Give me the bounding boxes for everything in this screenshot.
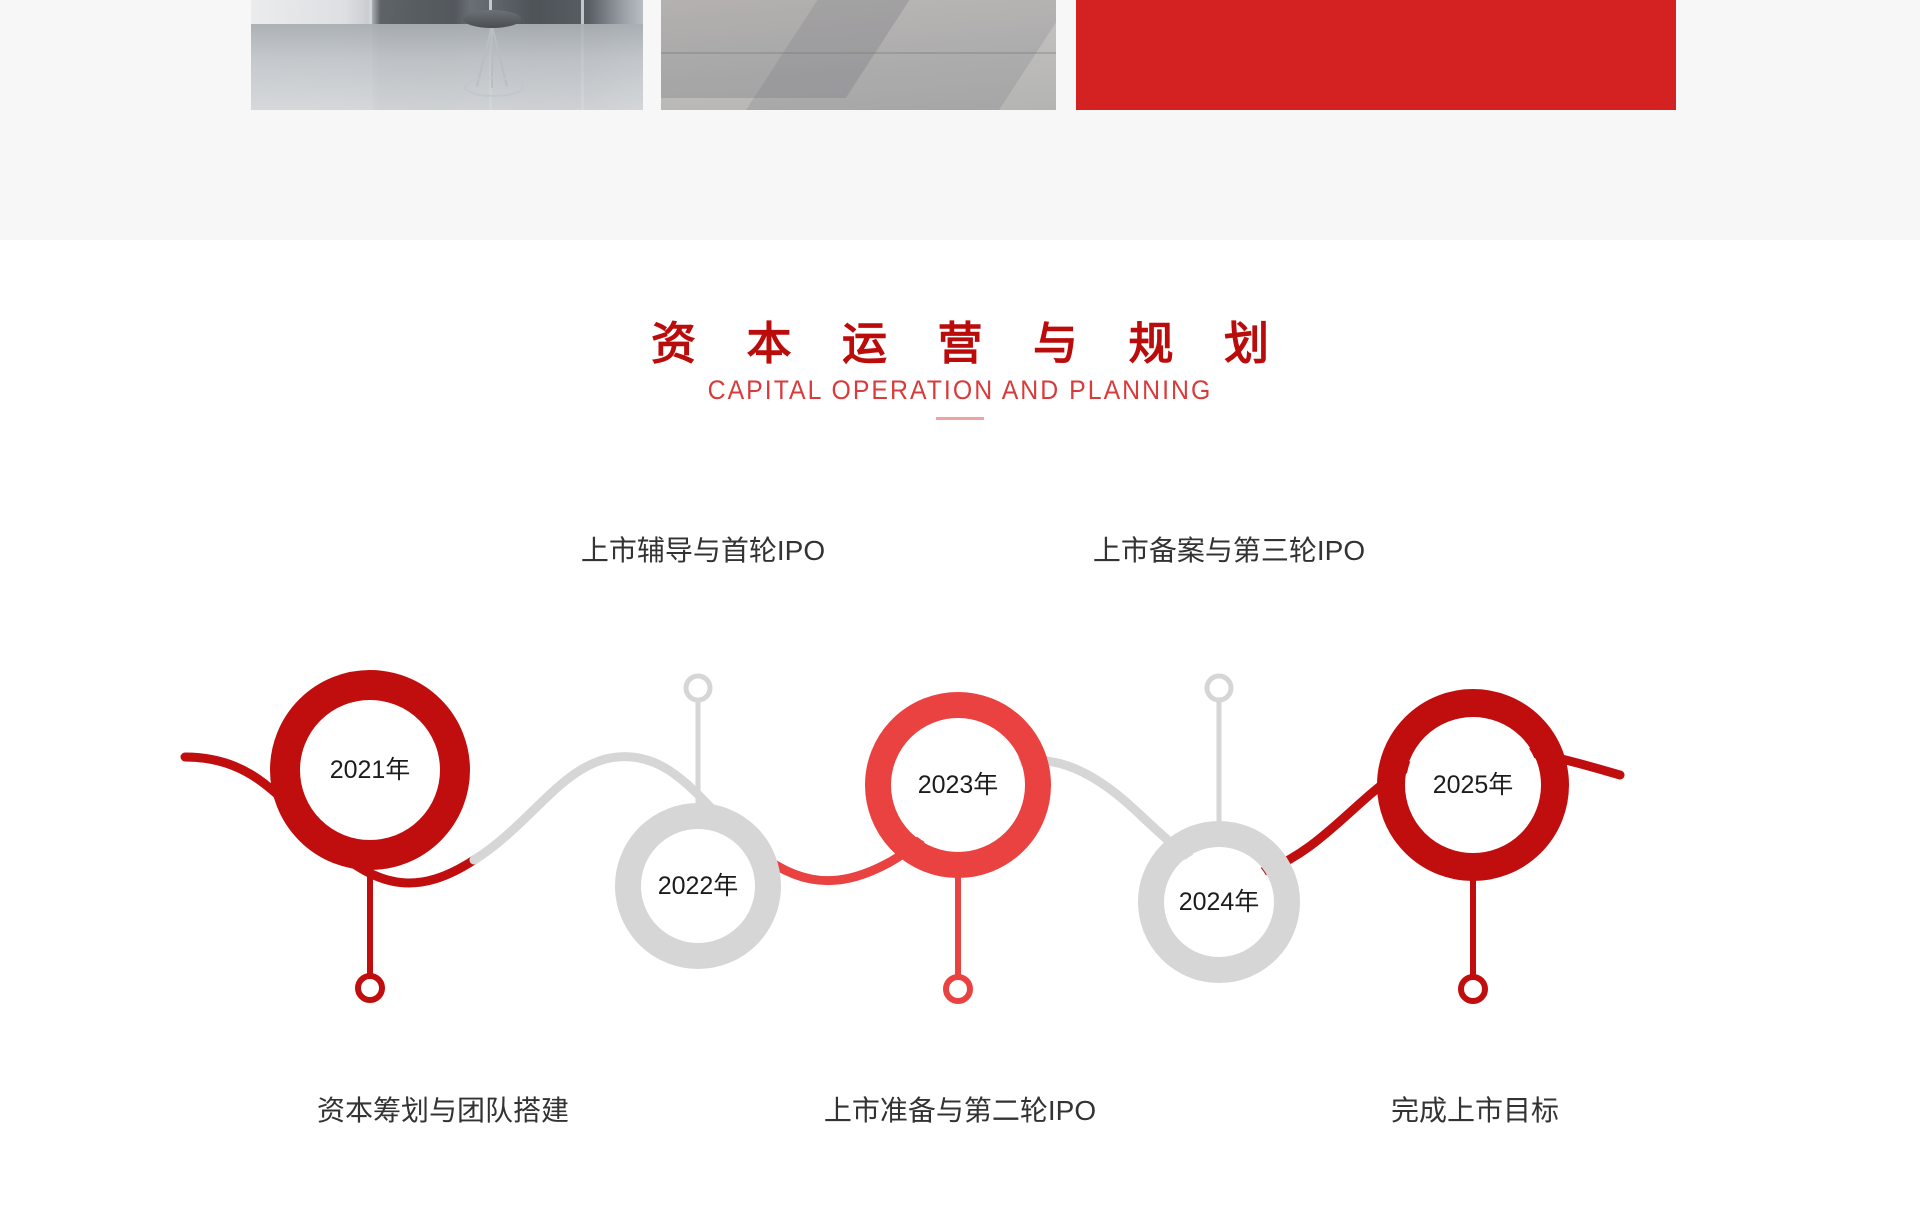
factory-pavement-photo [661, 0, 1056, 110]
milestone-label-2022: 上市辅导与首轮IPO [581, 535, 825, 566]
page-subtitle: CAPITAL OPERATION AND PLANNING [77, 375, 1843, 406]
node-2023-year: 2023年 [918, 771, 999, 799]
node-2024[interactable]: 2024年 [1151, 676, 1287, 970]
milestone-label-2025: 完成上市目标 [1391, 1095, 1559, 1126]
milestone-label-2021: 资本筹划与团队搭建 [317, 1095, 569, 1126]
node-2021[interactable]: 2021年 [285, 685, 455, 1000]
node-2024-year: 2024年 [1179, 888, 1260, 916]
header-image-strip [0, 0, 1920, 240]
node-2023[interactable]: 2023年 [878, 705, 1038, 1001]
node-2022-year: 2022年 [658, 872, 739, 900]
milestone-label-2023: 上市准备与第二轮IPO [824, 1095, 1096, 1126]
office-interior-photo [251, 0, 643, 110]
title-underline-rule [936, 417, 984, 420]
capital-plan-timeline: 2021年 2022年 2023年 2024年 2025年 上市辅导与首轮IPO… [0, 500, 1920, 1200]
page-title: 资 本 运 营 与 规 划 [19, 318, 1920, 370]
node-2022[interactable]: 2022年 [628, 676, 768, 956]
red-color-block [1076, 0, 1676, 110]
section-title-block: 资 本 运 营 与 规 划 CAPITAL OPERATION AND PLAN… [0, 318, 1920, 420]
node-2021-year: 2021年 [330, 756, 411, 784]
node-2025-year: 2025年 [1433, 771, 1514, 799]
milestone-label-2024: 上市备案与第三轮IPO [1093, 535, 1365, 566]
node-2025[interactable]: 2025年 [1391, 703, 1555, 1001]
